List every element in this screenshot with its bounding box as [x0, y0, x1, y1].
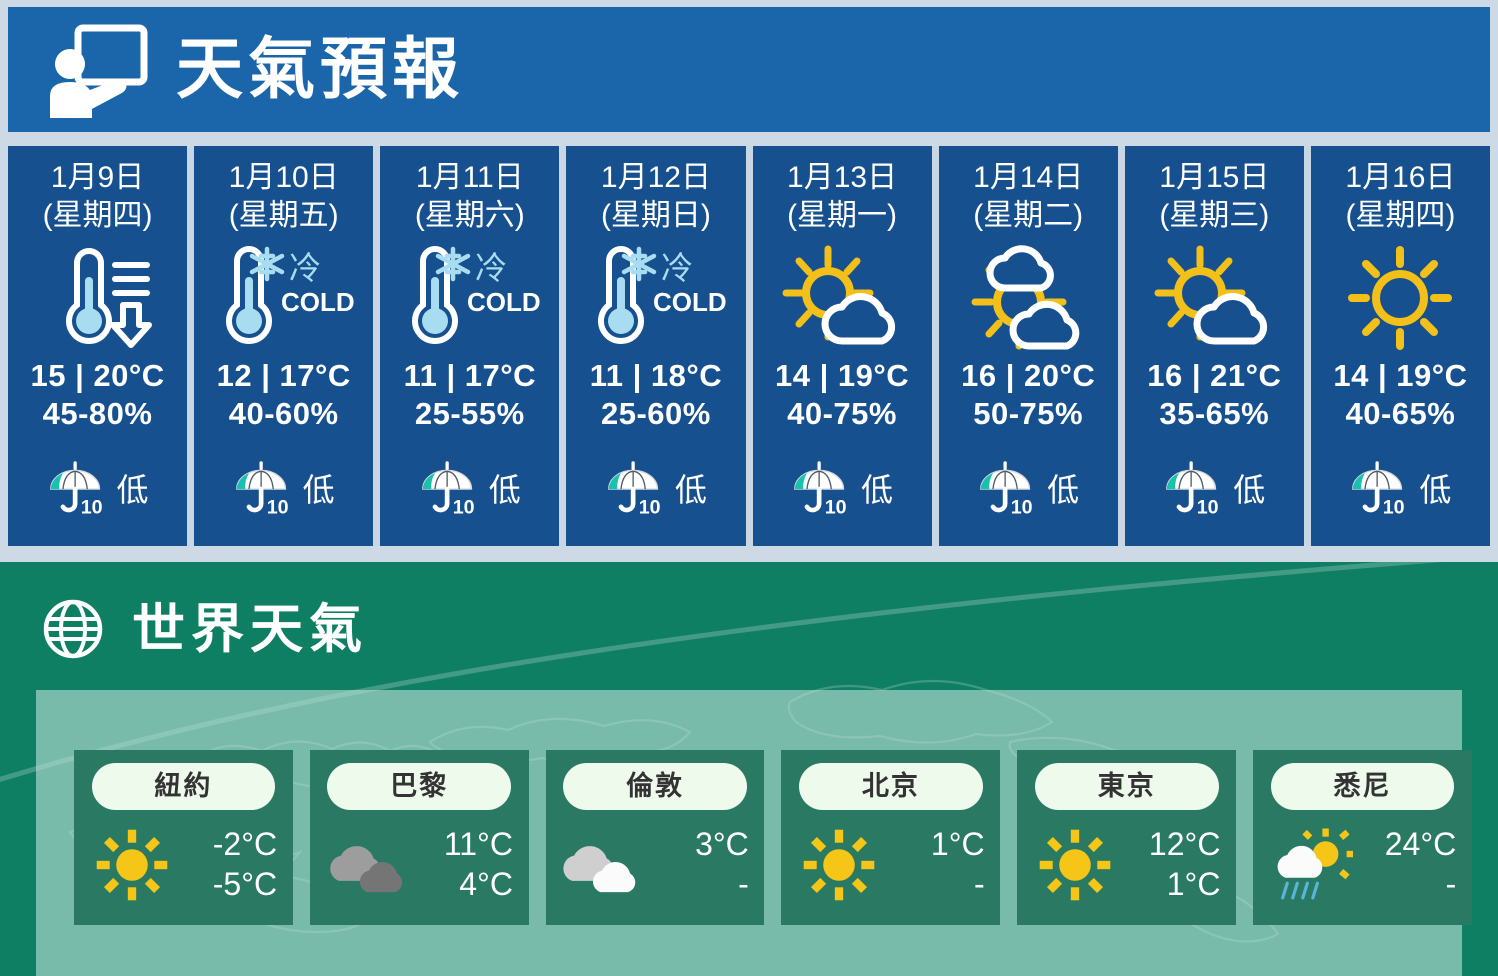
forecast-weather-icon: 冷 COLD — [395, 239, 545, 357]
city-weather-icon — [1033, 823, 1117, 907]
sun-icon — [1346, 244, 1454, 352]
city-weather-card[interactable]: 倫敦 3°C- — [546, 750, 765, 925]
weather-forecast-page: 天氣預報 1月9日(星期四) 15 | 20°C45-80% 10 低1月10日… — [0, 0, 1498, 976]
city-name: 北京 — [862, 773, 920, 800]
cold-caption: 冷 — [289, 250, 321, 286]
city-weather-icon — [90, 823, 174, 907]
uv-level-label: 低 — [303, 474, 335, 506]
sun-icon — [93, 826, 171, 904]
forecast-day-card[interactable]: 1月13日(星期一) 14 | 19°C40-75% 10 低 — [753, 146, 932, 546]
forecast-card-strip: 1月9日(星期四) 15 | 20°C45-80% 10 低1月10日(星期五) — [8, 146, 1490, 546]
city-weather-icon — [797, 823, 881, 907]
city-low-temp: - — [738, 865, 749, 904]
forecast-temperature: 11 | 18°C — [590, 357, 722, 395]
cold-caption: 冷 — [475, 250, 507, 286]
city-weather-card[interactable]: 紐約 -2°C-5°C — [74, 750, 293, 925]
forecast-humidity: 25-60% — [601, 395, 711, 433]
uv-index-value: 10 — [453, 497, 475, 519]
thermometer-cold-icon: 冷 COLD — [209, 245, 359, 351]
umbrella-icon: 10 — [605, 461, 665, 519]
city-temperatures: 11°C4°C — [421, 825, 513, 903]
forecast-weekday: (星期日) — [601, 197, 711, 235]
thermometer-cold-icon: 冷 COLD — [581, 245, 731, 351]
forecast-uv-index: 10 低 — [1349, 461, 1451, 519]
forecast-date: 1月10日 — [229, 159, 339, 197]
city-weather-body: 1°C- — [781, 810, 1000, 925]
forecast-date: 1月9日 — [51, 159, 144, 197]
uv-level-label: 低 — [489, 474, 521, 506]
city-name-pill: 倫敦 — [563, 763, 747, 810]
sun-behind-two-clouds-icon — [963, 242, 1093, 354]
clouds-grey-icon — [326, 832, 410, 898]
forecast-header: 天氣預報 — [8, 7, 1490, 132]
cold-caption-sub: COLD — [281, 287, 355, 317]
forecast-humidity: 40-75% — [787, 395, 897, 433]
forecast-humidity: 50-75% — [973, 395, 1083, 433]
clouds-light-icon — [561, 832, 645, 898]
forecast-humidity: 35-65% — [1159, 395, 1269, 433]
uv-level-label: 低 — [1233, 474, 1265, 506]
forecast-day-card[interactable]: 1月10日(星期五) 冷 COLD 12 | 17°C40-60% 10 低 — [194, 146, 373, 546]
forecast-day-card[interactable]: 1月15日(星期三) 16 | 21°C35-65% 10 低 — [1125, 146, 1304, 546]
uv-index-value: 10 — [266, 497, 288, 519]
city-weather-card[interactable]: 巴黎 11°C4°C — [310, 750, 529, 925]
city-name: 悉尼 — [1334, 773, 1392, 800]
city-low-temp: - — [1446, 865, 1457, 904]
forecast-date: 1月13日 — [787, 159, 897, 197]
forecast-day-card[interactable]: 1月11日(星期六) 冷 COLD 11 | 17°C25-55% 10 低 — [380, 146, 559, 546]
city-temperatures: 24°C- — [1364, 825, 1456, 903]
presenter-board-icon — [46, 22, 150, 118]
forecast-weekday: (星期六) — [415, 197, 525, 235]
forecast-weather-icon: 冷 COLD — [581, 239, 731, 357]
city-name: 巴黎 — [390, 773, 448, 800]
forecast-uv-index: 10 低 — [977, 461, 1079, 519]
city-weather-card[interactable]: 北京 1°C- — [781, 750, 1000, 925]
forecast-uv-index: 10 低 — [605, 461, 707, 519]
forecast-date: 1月11日 — [416, 159, 524, 197]
umbrella-icon: 10 — [233, 461, 293, 519]
forecast-temperature: 15 | 20°C — [30, 357, 164, 395]
city-name: 倫敦 — [626, 773, 684, 800]
city-card-row: 紐約 -2°C-5°C巴黎 11°C4°C倫敦 3°C-北京 — [74, 750, 1472, 925]
sun-rain-icon — [1269, 828, 1353, 902]
forecast-day-card[interactable]: 1月14日(星期二) 16 | 20°C50-75% 10 低 — [939, 146, 1118, 546]
city-low-temp: 4°C — [459, 865, 513, 904]
forecast-date: 1月14日 — [973, 159, 1083, 197]
city-temperatures: 3°C- — [657, 825, 749, 903]
forecast-uv-index: 10 低 — [791, 461, 893, 519]
sun-icon — [800, 826, 878, 904]
forecast-date: 1月15日 — [1159, 159, 1269, 197]
city-weather-body: 11°C4°C — [310, 810, 529, 925]
city-low-temp: - — [974, 865, 985, 904]
cold-caption-sub: COLD — [467, 287, 541, 317]
forecast-weather-icon — [1346, 239, 1454, 357]
thermometer-cold-icon: 冷 COLD — [395, 245, 545, 351]
uv-index-value: 10 — [1383, 497, 1405, 519]
forecast-humidity: 25-55% — [415, 395, 525, 433]
forecast-day-card[interactable]: 1月12日(星期日) 冷 COLD 11 | 18°C25-60% 10 低 — [566, 146, 745, 546]
city-weather-body: 24°C- — [1253, 810, 1472, 925]
city-name: 東京 — [1098, 773, 1156, 800]
uv-index-value: 10 — [1011, 497, 1033, 519]
umbrella-icon: 10 — [977, 461, 1037, 519]
umbrella-icon: 10 — [791, 461, 851, 519]
uv-level-label: 低 — [1047, 474, 1079, 506]
forecast-date: 1月16日 — [1345, 159, 1455, 197]
forecast-temperature: 14 | 19°C — [775, 357, 909, 395]
city-weather-icon — [326, 823, 410, 907]
forecast-weather-icon — [39, 239, 157, 357]
city-weather-body: -2°C-5°C — [74, 810, 293, 925]
city-high-temp: 11°C — [444, 825, 513, 864]
city-name: 紐約 — [154, 773, 212, 800]
uv-level-label: 低 — [1419, 474, 1451, 506]
city-high-temp: 3°C — [695, 825, 749, 864]
forecast-temperature: 12 | 17°C — [217, 357, 351, 395]
city-weather-card[interactable]: 東京 12°C1°C — [1017, 750, 1236, 925]
city-name-pill: 巴黎 — [327, 763, 511, 810]
city-temperatures: 12°C1°C — [1128, 825, 1220, 903]
thermometer-falling-icon — [39, 245, 157, 351]
sun-behind-cloud-icon — [1154, 243, 1274, 353]
globe-icon — [42, 598, 104, 660]
city-high-temp: 12°C — [1149, 825, 1221, 864]
uv-level-label: 低 — [117, 474, 149, 506]
sun-icon — [1036, 826, 1114, 904]
city-name-pill: 紐約 — [92, 763, 276, 810]
city-weather-icon — [561, 823, 645, 907]
umbrella-icon: 10 — [47, 461, 107, 519]
forecast-temperature: 11 | 17°C — [404, 357, 536, 395]
city-weather-card[interactable]: 悉尼 24°C- — [1253, 750, 1472, 925]
city-temperatures: 1°C- — [893, 825, 985, 903]
city-name-pill: 悉尼 — [1271, 763, 1455, 810]
forecast-weekday: (星期三) — [1159, 197, 1269, 235]
forecast-weather-icon: 冷 COLD — [209, 239, 359, 357]
uv-level-label: 低 — [861, 474, 893, 506]
umbrella-icon: 10 — [1349, 461, 1409, 519]
forecast-weekday: (星期四) — [43, 197, 153, 235]
world-weather-title: 世界天氣 — [132, 603, 368, 656]
sun-behind-cloud-icon — [782, 243, 902, 353]
city-name-pill: 北京 — [799, 763, 983, 810]
forecast-weather-icon — [1154, 239, 1274, 357]
forecast-weekday: (星期一) — [787, 197, 897, 235]
world-weather-header: 世界天氣 — [0, 562, 1498, 672]
city-low-temp: -5°C — [213, 865, 277, 904]
forecast-weather-icon — [963, 239, 1093, 357]
forecast-uv-index: 10 低 — [47, 461, 149, 519]
forecast-temperature: 14 | 19°C — [1333, 357, 1467, 395]
forecast-day-card[interactable]: 1月16日(星期四) 14 | 19°C40-65% 10 低 — [1311, 146, 1490, 546]
cold-caption: 冷 — [661, 250, 693, 286]
forecast-date: 1月12日 — [601, 159, 711, 197]
forecast-humidity: 40-60% — [229, 395, 339, 433]
forecast-weekday: (星期二) — [973, 197, 1083, 235]
city-high-temp: -2°C — [213, 825, 277, 864]
forecast-humidity: 45-80% — [43, 395, 153, 433]
forecast-uv-index: 10 低 — [419, 461, 521, 519]
forecast-uv-index: 10 低 — [1163, 461, 1265, 519]
city-temperatures: -2°C-5°C — [185, 825, 277, 903]
umbrella-icon: 10 — [1163, 461, 1223, 519]
forecast-title: 天氣預報 — [176, 36, 464, 103]
city-weather-body: 12°C1°C — [1017, 810, 1236, 925]
uv-index-value: 10 — [80, 497, 102, 519]
uv-index-value: 10 — [1197, 497, 1219, 519]
forecast-uv-index: 10 低 — [233, 461, 335, 519]
forecast-weekday: (星期四) — [1345, 197, 1455, 235]
forecast-weather-icon — [782, 239, 902, 357]
city-low-temp: 1°C — [1167, 865, 1221, 904]
uv-index-value: 10 — [825, 497, 847, 519]
cold-caption-sub: COLD — [653, 287, 727, 317]
uv-level-label: 低 — [675, 474, 707, 506]
city-high-temp: 1°C — [931, 825, 985, 864]
city-high-temp: 24°C — [1385, 825, 1457, 864]
city-name-pill: 東京 — [1035, 763, 1219, 810]
city-weather-icon — [1269, 823, 1353, 907]
forecast-humidity: 40-65% — [1346, 395, 1456, 433]
umbrella-icon: 10 — [419, 461, 479, 519]
city-weather-body: 3°C- — [546, 810, 765, 925]
forecast-weekday: (星期五) — [229, 197, 339, 235]
forecast-day-card[interactable]: 1月9日(星期四) 15 | 20°C45-80% 10 低 — [8, 146, 187, 546]
forecast-temperature: 16 | 20°C — [961, 357, 1095, 395]
forecast-temperature: 16 | 21°C — [1147, 357, 1281, 395]
uv-index-value: 10 — [639, 497, 661, 519]
